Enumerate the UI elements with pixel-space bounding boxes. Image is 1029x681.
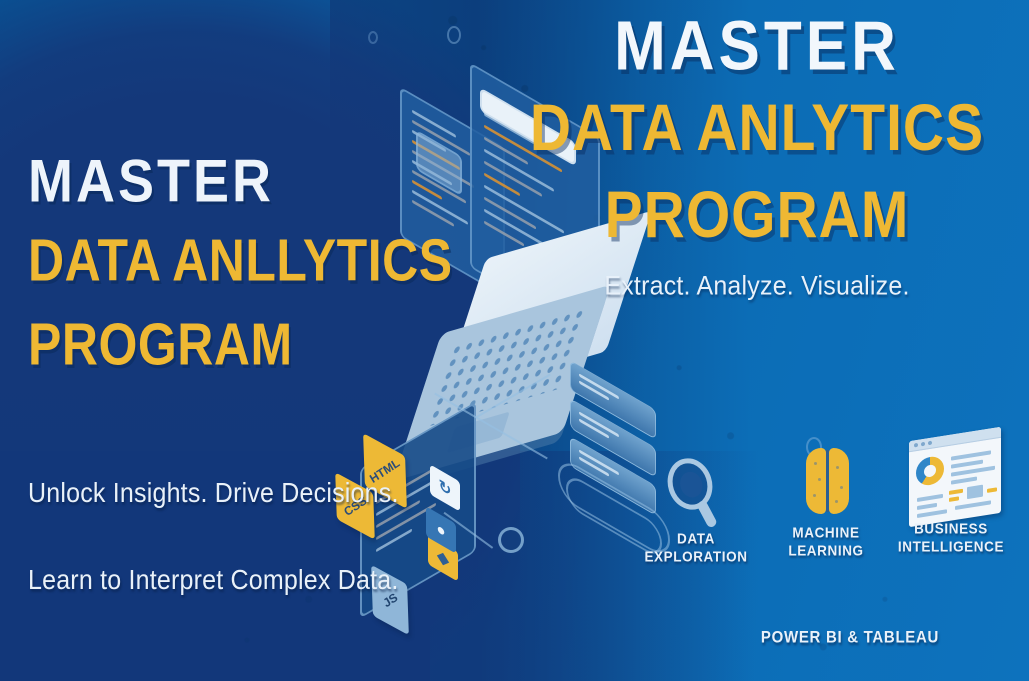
feature-label-machine-learning: MACHINE LEARNING bbox=[766, 524, 886, 561]
feature-list: DATA EXPLORATION MACHINE bbox=[636, 440, 1026, 615]
feature-label-line2: INTELLIGENCE bbox=[891, 538, 1011, 556]
banner-image: HTML CSS JS ↻ ◆ ● MASTER DATA ANLLYTICS … bbox=[0, 0, 1029, 681]
feature-label-data-exploration: DATA EXPLORATION bbox=[636, 530, 756, 567]
left-tagline-group: Unlock Insights. Drive Decisions. Learn … bbox=[28, 478, 448, 594]
tagline-interpret-data: Learn to Interpret Complex Data. bbox=[28, 565, 448, 597]
feature-label-line1: BUSINESS bbox=[891, 520, 1011, 538]
left-headline-group: MASTER DATA ANLLYTICS PROGRAM bbox=[28, 152, 458, 365]
right-headline-group: MASTER DATA ANLYTICS PROGRAM Extract. An… bbox=[507, 16, 1007, 301]
feature-label-line2: EXPLORATION bbox=[636, 548, 756, 566]
tagline-unlock-insights: Unlock Insights. Drive Decisions. bbox=[28, 478, 448, 510]
feature-machine-learning: MACHINE LEARNING bbox=[766, 444, 886, 559]
brain-icon bbox=[766, 444, 886, 526]
feature-label-line1: DATA bbox=[636, 530, 756, 548]
decorative-ring-3 bbox=[368, 31, 378, 44]
feature-business-intelligence: BUSINESS INTELLIGENCE bbox=[891, 440, 1011, 555]
right-subtitle: Extract. Analyze. Visualize. bbox=[507, 271, 1007, 302]
feature-data-exploration: DATA EXPLORATION bbox=[636, 450, 756, 565]
left-headline-master: MASTER bbox=[28, 152, 458, 211]
right-headline-master: MASTER bbox=[507, 12, 1007, 81]
feature-label-line1: MACHINE bbox=[766, 524, 886, 542]
dashboard-icon bbox=[891, 440, 1011, 522]
left-headline-analytics: DATA ANLLYTICS bbox=[28, 231, 458, 290]
footer-note-power-bi-tableau: POWER BI & TABLEAU bbox=[700, 628, 1000, 647]
magnifier-icon bbox=[636, 450, 756, 532]
feature-label-business-intelligence: BUSINESS INTELLIGENCE bbox=[891, 520, 1011, 557]
right-headline-analytics: DATA ANLYTICS bbox=[507, 96, 1007, 162]
feature-label-line2: LEARNING bbox=[766, 542, 886, 560]
left-headline-program: PROGRAM bbox=[28, 315, 458, 374]
right-headline-program: PROGRAM bbox=[507, 183, 1007, 249]
decorative-ring-1 bbox=[447, 26, 461, 44]
